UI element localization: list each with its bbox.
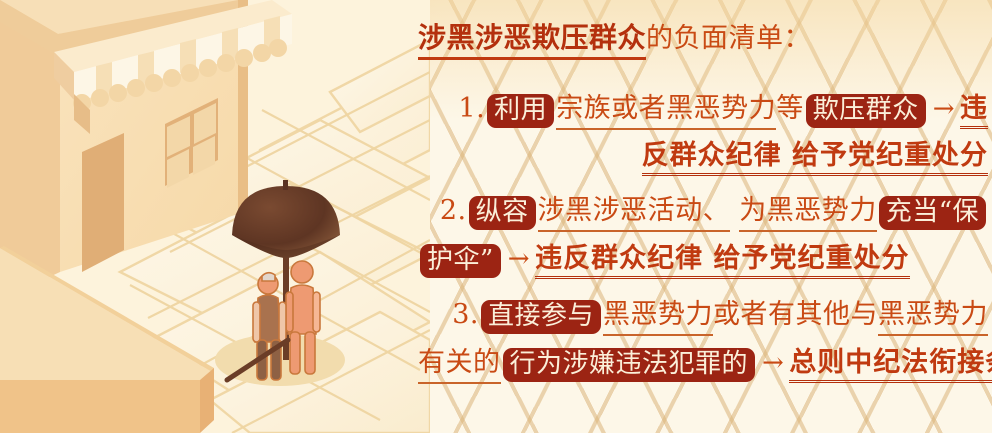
item-2-chip-2: 充当“保 (879, 196, 986, 230)
elderly-arm-left (253, 302, 260, 342)
item-3-chip-2: 行为涉嫌违法犯罪的 (503, 348, 756, 382)
item-1-plain-1: 等 (776, 93, 804, 124)
item-3-index: 3. (452, 299, 479, 330)
item-3-result: 总则中纪法衔接条款 (789, 347, 992, 383)
item-3-chip-1: 直接参与 (481, 300, 601, 334)
item-2-spacer (730, 195, 739, 226)
item-3-arrow: → (757, 348, 789, 378)
title-suffix: 的负面清单： (646, 23, 811, 54)
panel-title: 涉黑涉恶欺压群众的负面清单： (418, 24, 811, 52)
list-item-1-line-2: 反群众纪律 给予党纪重处分 (642, 142, 988, 169)
umbrella-finial (283, 180, 288, 190)
list-item-2-line-2: 护伞”→违反群众纪律 给予党纪重处分 (418, 244, 910, 278)
item-1-underlined-1: 宗族或者黑恶势力 (556, 93, 776, 130)
bystander-leg-left (290, 332, 300, 374)
list-item-3-line-1: 3.直接参与黑恶势力或者有其他与黑恶势力 (452, 300, 988, 334)
elderly-arm-right (279, 302, 286, 342)
elderly-hair (262, 273, 275, 281)
list-item-2-line-1: 2.纵容涉黑涉恶活动、 为黑恶势力充当“保 (440, 196, 988, 230)
item-2-index: 2. (440, 195, 467, 226)
item-3-underlined-3: 有关的 (418, 347, 501, 384)
list-item-1-line-1: 1.利用宗族或者黑恶势力等欺压群众→违 (458, 94, 988, 128)
item-1-result-head: 违 (960, 93, 988, 129)
item-1-index: 1. (458, 93, 485, 124)
title-keyword: 涉黑涉恶欺压群众 (418, 21, 646, 60)
item-1-chip-1: 利用 (487, 94, 554, 128)
door (82, 133, 124, 272)
item-2-underlined-1: 涉黑涉恶活动、 (538, 195, 731, 232)
list-item-3-line-2: 有关的行为涉嫌违法犯罪的→总则中纪法衔接条款 (418, 348, 992, 382)
item-2-chip-1: 纵容 (469, 196, 536, 230)
bystander-arm-left (286, 292, 293, 332)
bystander-leg-right (305, 332, 315, 374)
illustration-isometric-street-scene (0, 0, 430, 433)
item-2-arrow: → (503, 244, 535, 274)
item-2-underlined-2: 为黑恶势力 (739, 195, 877, 232)
negative-list-text-panel: 涉黑涉恶欺压群众的负面清单： 1.利用宗族或者黑恶势力等欺压群众→违 反群众纪律… (404, 0, 992, 433)
bystander-head (291, 261, 313, 283)
bystander-arm-right (313, 292, 320, 332)
item-2-result: 违反群众纪律 给予党纪重处分 (535, 243, 909, 279)
item-3-plain-1: 或者有其他与 (713, 299, 878, 330)
item-1-arrow: → (928, 94, 960, 124)
infographic-canvas: 涉黑涉恶欺压群众的负面清单： 1.利用宗族或者黑恶势力等欺压群众→违 反群众纪律… (0, 0, 992, 433)
item-1-result-tail: 反群众纪律 给予党纪重处分 (642, 140, 988, 176)
item-3-underlined-1: 黑恶势力 (603, 299, 713, 336)
item-1-chip-2: 欺压群众 (806, 94, 926, 128)
item-2-chip-3: 护伞” (420, 244, 501, 278)
item-3-underlined-2: 黑恶势力 (878, 299, 988, 336)
